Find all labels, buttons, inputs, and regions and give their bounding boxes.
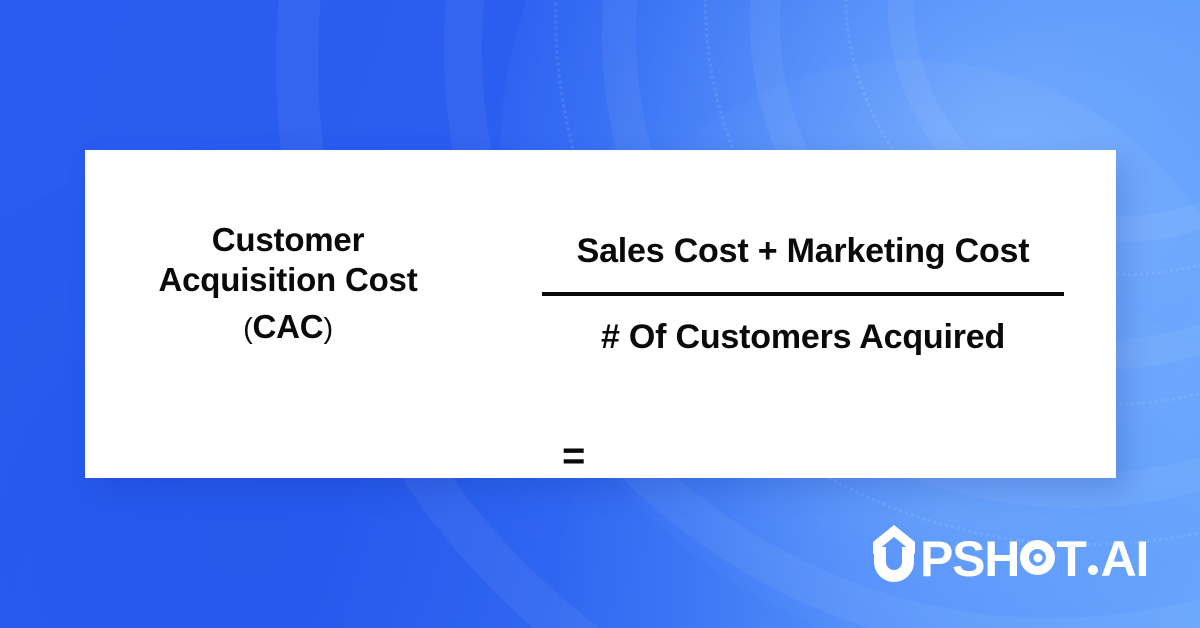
- formula-fraction: Sales Cost + Marketing Cost # Of Custome…: [533, 232, 1073, 357]
- wordmark-segment-psh: PSH: [920, 534, 1019, 584]
- formula-card: Customer Acquisition Cost (CAC) = Sales …: [85, 150, 1116, 478]
- upshot-chevron-u-mark-icon: [868, 524, 920, 586]
- wordmark-dot-icon: [1088, 565, 1098, 575]
- wordmark-o-ring-icon: [1020, 540, 1055, 575]
- lhs-line-1: Customer: [103, 220, 473, 260]
- formula-left-hand-side: Customer Acquisition Cost (CAC): [103, 220, 473, 347]
- wordmark-segment-t: T: [1056, 534, 1085, 584]
- slide-canvas: Customer Acquisition Cost (CAC) = Sales …: [0, 0, 1200, 628]
- equals-operator: =: [562, 436, 585, 476]
- fraction-denominator: # Of Customers Acquired: [533, 318, 1073, 357]
- wordmark-segment-ai: AI: [1101, 534, 1149, 584]
- upshot-ai-logo[interactable]: PSH T AI: [868, 520, 1148, 586]
- lhs-abbreviation: (CAC): [103, 307, 473, 347]
- lhs-paren-close: ): [323, 313, 332, 345]
- lhs-paren-open: (: [243, 313, 252, 345]
- fraction-numerator: Sales Cost + Marketing Cost: [533, 232, 1073, 271]
- lhs-line-2: Acquisition Cost: [103, 260, 473, 300]
- upshot-ai-wordmark: PSH T AI: [920, 534, 1148, 584]
- fraction-bar: [542, 292, 1064, 296]
- lhs-abbrev-text: CAC: [253, 308, 324, 345]
